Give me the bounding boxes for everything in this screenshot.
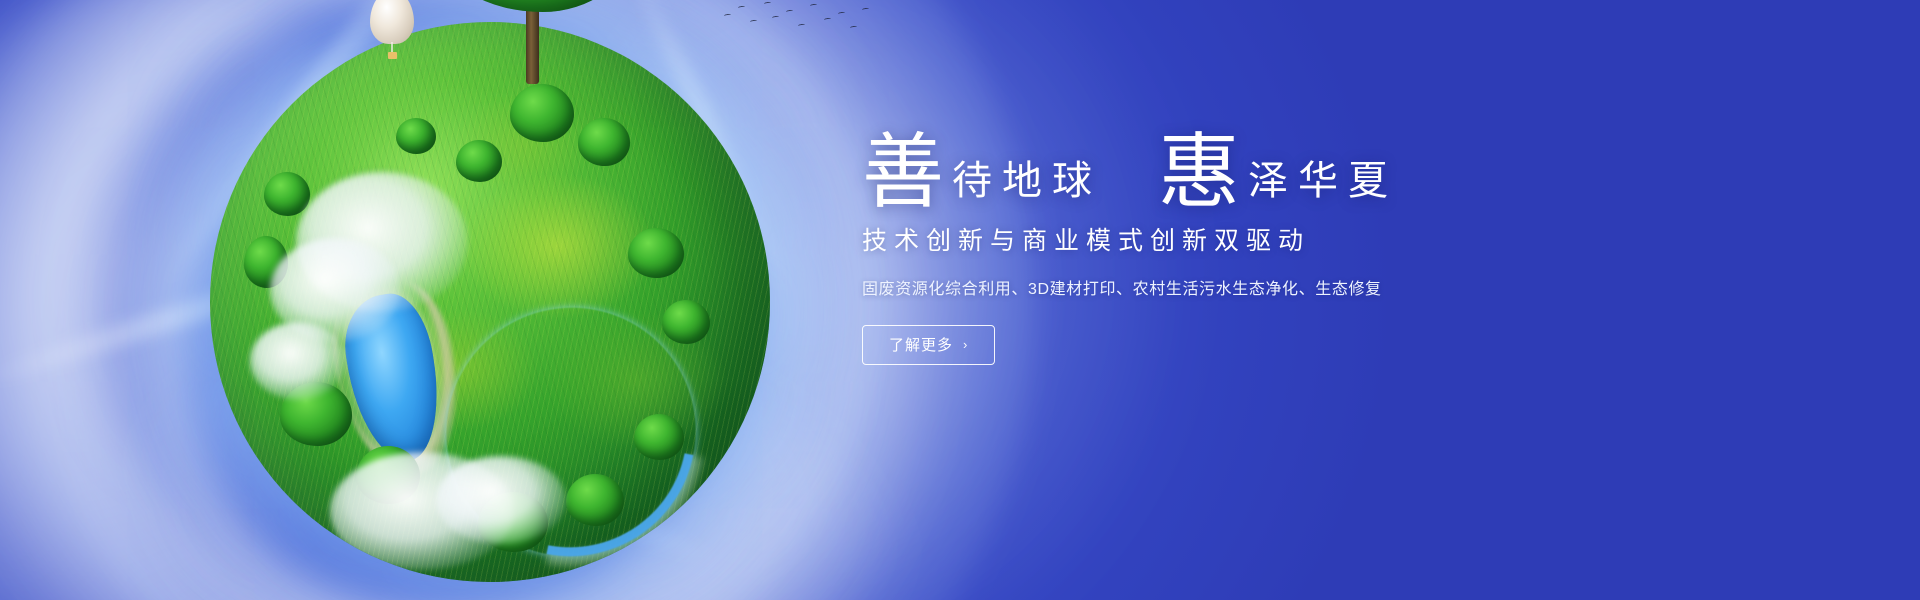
tree-trunk [526,0,539,84]
hero-description: 固废资源化综合利用、3D建材打印、农村生活污水生态净化、生态修复 [862,275,1742,299]
tree-icon [264,172,310,216]
hero-banner: 善 待地球 惠 泽华夏 技术创新与商业模式创新双驱动 固废资源化综合利用、3D建… [0,0,1920,600]
headline-rest-2: 泽华夏 [1248,148,1398,206]
tree-icon [628,228,684,278]
birds-icon [720,0,870,42]
hero-tree-icon [440,0,630,70]
tree-icon [662,300,710,344]
hot-air-balloon-icon [370,0,414,64]
hero-headline: 善 待地球 惠 泽华夏 [862,128,1742,207]
tree-icon [566,474,624,526]
chevron-right-icon: › [963,337,968,352]
earth-globe [210,22,770,582]
balloon-basket [388,52,397,59]
planet-cloud [436,456,566,544]
headline-lead-char-1: 善 [862,134,944,213]
hero-content: 善 待地球 惠 泽华夏 技术创新与商业模式创新双驱动 固废资源化综合利用、3D建… [862,128,1742,365]
learn-more-button[interactable]: 了解更多 › [862,325,995,365]
headline-rest-1: 待地球 [952,148,1102,206]
globe-illustration [140,0,840,600]
tree-icon [578,118,630,166]
learn-more-label: 了解更多 [889,334,953,355]
tree-icon [510,84,574,142]
tree-icon [396,118,436,154]
headline-lead-char-2: 惠 [1158,134,1240,213]
planet-cloud [250,322,346,400]
tree-crown [440,0,630,12]
hero-subtitle: 技术创新与商业模式创新双驱动 [862,221,1742,257]
balloon-envelope [370,0,414,44]
tree-icon [634,414,684,460]
tree-icon [456,140,502,182]
